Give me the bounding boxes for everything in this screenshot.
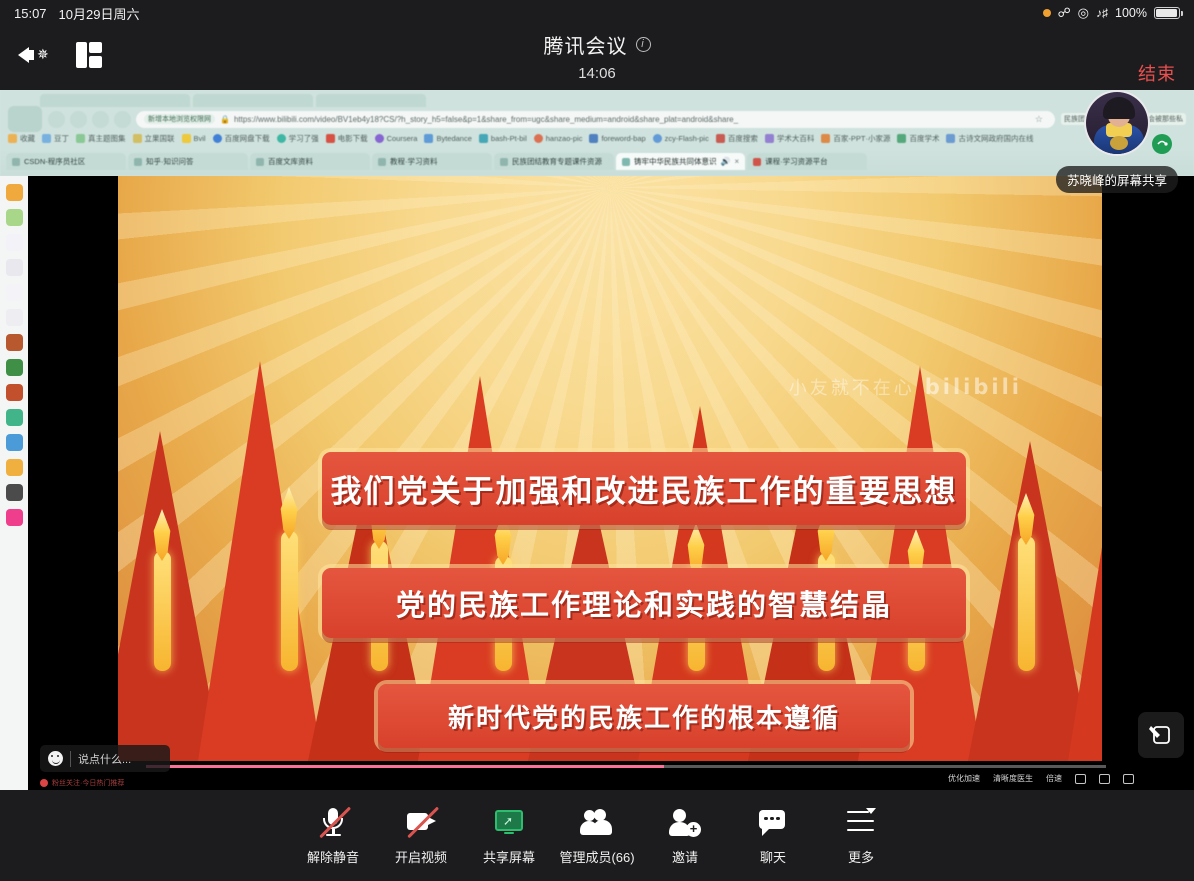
more-icon [844, 806, 878, 838]
notes-app-icon[interactable] [6, 184, 23, 201]
close-icon[interactable]: × [734, 157, 739, 166]
bookmark-item[interactable]: Bytedance [424, 134, 471, 143]
player-footer-note: 粉丝关注·今日热门推荐 [40, 778, 124, 788]
star-app-icon[interactable] [6, 284, 23, 301]
invite-icon: + [668, 806, 702, 838]
camera-app-icon[interactable] [6, 484, 23, 501]
meeting-duration: 14:06 [0, 65, 1194, 82]
manage-members-icon [580, 806, 614, 838]
address-bar[interactable]: 新增本地浏览权限网 🔒 https://www.bilibili.com/vid… [136, 111, 1055, 128]
info-icon[interactable]: i [636, 37, 651, 52]
screen-share-label: 苏晓峰的屏幕共享 [1056, 166, 1178, 193]
video-player[interactable]: 小友就不在心 bilibili 我们党关于加强和改进民族工作的重要思想 党的民族… [28, 176, 1194, 790]
video-controls: 优化加速 清晰度医生 倍速 [948, 773, 1134, 784]
bookmark-item[interactable]: 百度学术 [897, 133, 939, 144]
home-button[interactable] [114, 111, 131, 128]
forward-button[interactable] [70, 111, 87, 128]
browser-profile-avatar[interactable] [8, 106, 42, 132]
bookmark-item[interactable]: hanzao-pic [534, 134, 583, 143]
bookmark-item[interactable]: Coursera [375, 134, 418, 143]
watermark-text: 小友就不在心 [789, 374, 915, 400]
browser-tab[interactable]: CSDN-程序员社区 [6, 153, 126, 170]
presenter-bubble[interactable]: 苏晓峰的屏幕共享 [1056, 90, 1178, 193]
bookmark-item[interactable]: Bvil [182, 134, 206, 143]
mic-muted-icon [316, 806, 350, 838]
status-date: 10月29日周六 [59, 4, 140, 23]
battery-icon [1154, 7, 1180, 19]
audio-playing-icon[interactable]: 🔊 [721, 157, 731, 166]
emoji-icon[interactable] [48, 751, 63, 766]
bookmark-item[interactable]: 百家-PPT·小家源 [821, 133, 890, 144]
comment-placeholder: 说点什么... [70, 751, 131, 767]
video-progress-bar[interactable] [146, 765, 1106, 768]
bookmark-item[interactable]: 收藏 [8, 133, 35, 144]
browser-tab[interactable]: 课程·学习资源平台 [747, 153, 867, 170]
chart-app-icon[interactable] [6, 359, 23, 376]
meeting-title-row: 腾讯会议 i [544, 30, 651, 59]
pink-app-icon[interactable] [6, 509, 23, 526]
screen-share-badge-icon [1152, 134, 1172, 154]
share-screen-button[interactable]: ➚ 共享屏幕 [465, 806, 553, 866]
manage-members-button[interactable]: 管理成员(66) [553, 806, 641, 866]
bilibili-logo: bilibili [925, 375, 1022, 399]
fullscreen-icon[interactable] [1123, 774, 1134, 784]
page-title: 腾讯会议 [544, 30, 628, 59]
browser-tab[interactable]: 知乎·知识问答 [128, 153, 248, 170]
bookmark-item[interactable]: 百度网盘下载 [213, 133, 270, 144]
meeting-toolbar: 解除静音 开启视频 ➚ 共享屏幕 管理成员(66) + 邀请 [0, 790, 1194, 881]
battery-percent: 100% [1115, 6, 1147, 20]
bookmark-item[interactable]: 学习了强 [277, 133, 319, 144]
address-bar-url: https://www.bilibili.com/video/BV1eb4y18… [234, 115, 738, 124]
meeting-header: ✵ 腾讯会议 i 14:06 结束 [0, 26, 1194, 90]
browser-tab-strip: CSDN-程序员社区 知乎·知识问答 百度文库资料 教程·学习资料 民族团结教育… [0, 148, 1194, 170]
headphones-icon: ♪♯ [1096, 6, 1108, 20]
person-app-icon[interactable] [6, 309, 23, 326]
comment-input-box[interactable]: 说点什么... [40, 745, 170, 772]
browser-tab[interactable]: 百度文库资料 [250, 153, 370, 170]
invite-button[interactable]: + 邀请 [641, 806, 729, 866]
reload-button[interactable] [92, 111, 109, 128]
back-button[interactable] [48, 111, 65, 128]
clock-app-icon[interactable] [6, 209, 23, 226]
bookmark-item[interactable]: 电影下载 [326, 133, 368, 144]
ios-status-bar: 15:07 10月29日周六 ☍ ◎ ♪♯ 100% [0, 0, 1194, 26]
bookmarks-bar: 收藏 豆丁 真主题图集 立果国联 Bvil 百度网盘下载 学习了强 电影下载 C… [0, 130, 1194, 146]
browser-tab-active[interactable]: 铸牢中华民族共同体意识 🔊 × [616, 153, 745, 170]
camera-off-icon [404, 806, 438, 838]
optimize-speed-control[interactable]: 优化加速 [948, 773, 980, 784]
slide-banner-3: 新时代党的民族工作的根本遵循 [378, 684, 910, 748]
music-app-icon[interactable] [6, 259, 23, 276]
paint-app-icon[interactable] [6, 384, 23, 401]
browser-chrome: 新增本地浏览权限网 🔒 https://www.bilibili.com/vid… [0, 90, 1194, 176]
end-meeting-button[interactable]: 结束 [1138, 60, 1176, 86]
browser-url-row: 新增本地浏览权限网 🔒 https://www.bilibili.com/vid… [0, 108, 1194, 130]
bookmark-item[interactable]: 百度搜索 [716, 133, 758, 144]
bookmark-item[interactable]: 古诗文网政府国内在线 [946, 133, 1033, 144]
slide-banner-1: 我们党关于加强和改进民族工作的重要思想 [322, 452, 966, 525]
bookmark-item[interactable]: bash-Pt-bil [479, 134, 527, 143]
more-button[interactable]: 更多 [817, 806, 905, 866]
bookmark-item[interactable]: zcy-Flash-pic [653, 134, 709, 143]
url-permission-pill: 新增本地浏览权限网 [144, 114, 215, 124]
slide-banner-2: 党的民族工作理论和实践的智慧结晶 [322, 568, 966, 638]
browser-tab[interactable]: 民族团结教育专题课件资源 [494, 153, 614, 170]
unmute-button[interactable]: 解除静音 [289, 806, 377, 866]
gallery-app-icon[interactable] [6, 334, 23, 351]
app-dock [0, 176, 28, 790]
avatar[interactable] [1084, 90, 1150, 156]
location-icon: ◎ [1078, 5, 1089, 21]
web-fullscreen-icon[interactable] [1099, 774, 1110, 784]
start-video-button[interactable]: 开启视频 [377, 806, 465, 866]
folder-app-icon[interactable] [6, 459, 23, 476]
chat-icon [756, 806, 790, 838]
browser-tab[interactable]: 教程·学习资料 [372, 153, 492, 170]
chat-button[interactable]: 聊天 [729, 806, 817, 866]
pen-annotate-icon[interactable] [1138, 712, 1184, 758]
record-dot-icon [1043, 9, 1051, 17]
speed-control[interactable]: 倍速 [1046, 773, 1062, 784]
star-icon[interactable]: ☆ [1031, 114, 1047, 125]
browser-window-tabs-strip [0, 92, 1194, 108]
bookmark-item[interactable]: 学术大百科 [765, 133, 815, 144]
share-screen-icon: ➚ [492, 806, 526, 838]
edit-app-icon[interactable] [6, 434, 23, 451]
clarity-doctor-control[interactable]: 清晰度医生 [993, 773, 1033, 784]
lock-icon: 🔒 [220, 115, 230, 124]
bookmark-item[interactable]: 真主题图集 [76, 133, 126, 144]
screen-root: 15:07 10月29日周六 ☍ ◎ ♪♯ 100% ✵ 腾讯会议 i [0, 0, 1194, 881]
translate-app-icon[interactable] [6, 409, 23, 426]
shared-screen-area: 新增本地浏览权限网 🔒 https://www.bilibili.com/vid… [0, 90, 1194, 790]
link-icon: ☍ [1058, 5, 1071, 21]
bookmark-item[interactable]: 豆丁 [42, 133, 69, 144]
bookmark-item[interactable]: 立果国联 [133, 133, 175, 144]
bookmark-item[interactable]: foreword-bap [589, 134, 645, 143]
photos-app-icon[interactable] [6, 234, 23, 251]
quality-icon[interactable] [1075, 774, 1086, 784]
status-time: 15:07 [14, 6, 47, 21]
bilibili-watermark: 小友就不在心 bilibili [789, 374, 1022, 400]
notice-dot-icon [40, 779, 48, 787]
